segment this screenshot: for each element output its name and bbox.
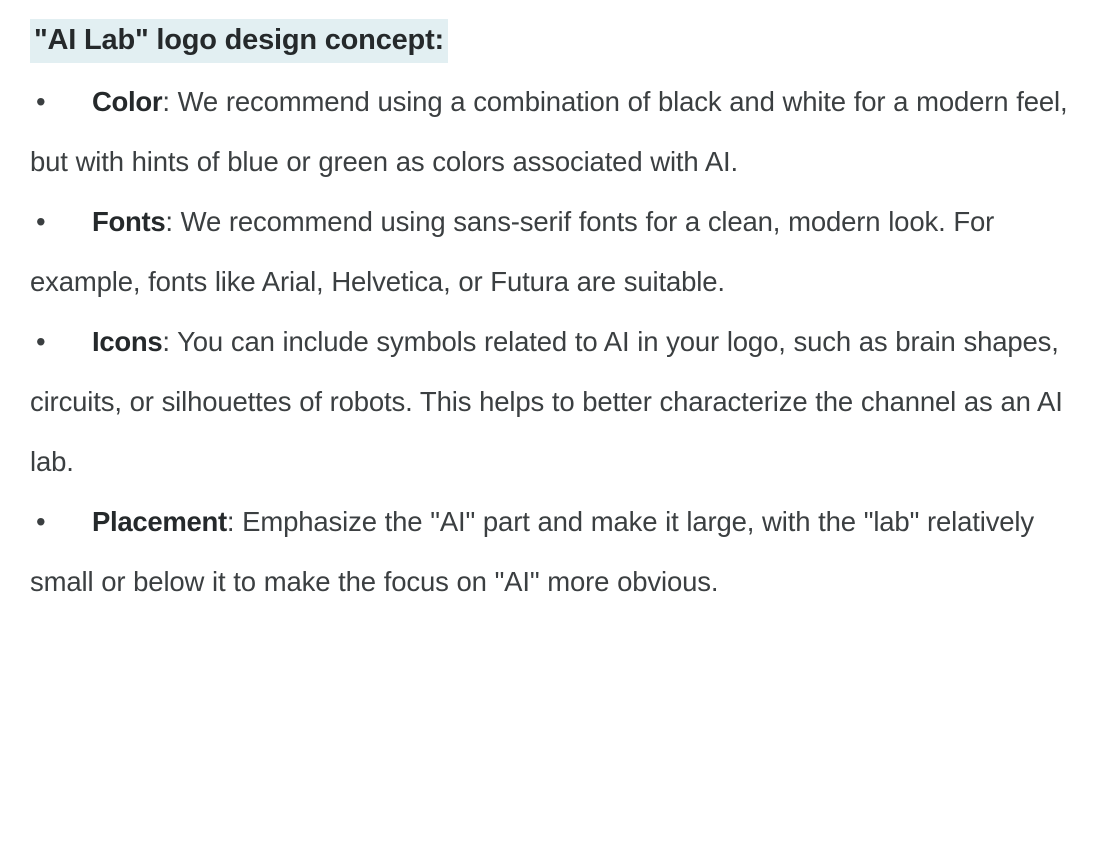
bullet-point-icon: • <box>36 192 48 252</box>
list-item-body: You can include symbols related to AI in… <box>30 326 1063 477</box>
list-item-term: Icons <box>92 326 162 357</box>
bullet-point-icon: • <box>36 72 48 132</box>
page-title: "AI Lab" logo design concept: <box>30 22 1090 55</box>
list-item: • Icons: You can include symbols related… <box>30 312 1090 492</box>
list-item-term: Placement <box>92 506 227 537</box>
concept-bullet-list: • Color: We recommend using a combinatio… <box>30 72 1090 612</box>
list-item-separator: : <box>227 506 242 537</box>
document-body: "AI Lab" logo design concept: • Color: W… <box>0 0 1112 848</box>
list-item-separator: : <box>162 326 177 357</box>
list-item-term: Fonts <box>92 206 165 237</box>
list-item-separator: : <box>162 86 177 117</box>
list-item-body: We recommend using a combination of blac… <box>30 86 1067 177</box>
page-title-text: "AI Lab" logo design concept: <box>30 19 448 63</box>
list-item-term: Color <box>92 86 162 117</box>
list-item-separator: : <box>165 206 180 237</box>
list-item: • Color: We recommend using a combinatio… <box>30 72 1090 192</box>
list-item: • Fonts: We recommend using sans-serif f… <box>30 192 1090 312</box>
bullet-point-icon: • <box>36 312 48 372</box>
list-item: • Placement: Emphasize the "AI" part and… <box>30 492 1090 612</box>
bullet-point-icon: • <box>36 492 48 552</box>
